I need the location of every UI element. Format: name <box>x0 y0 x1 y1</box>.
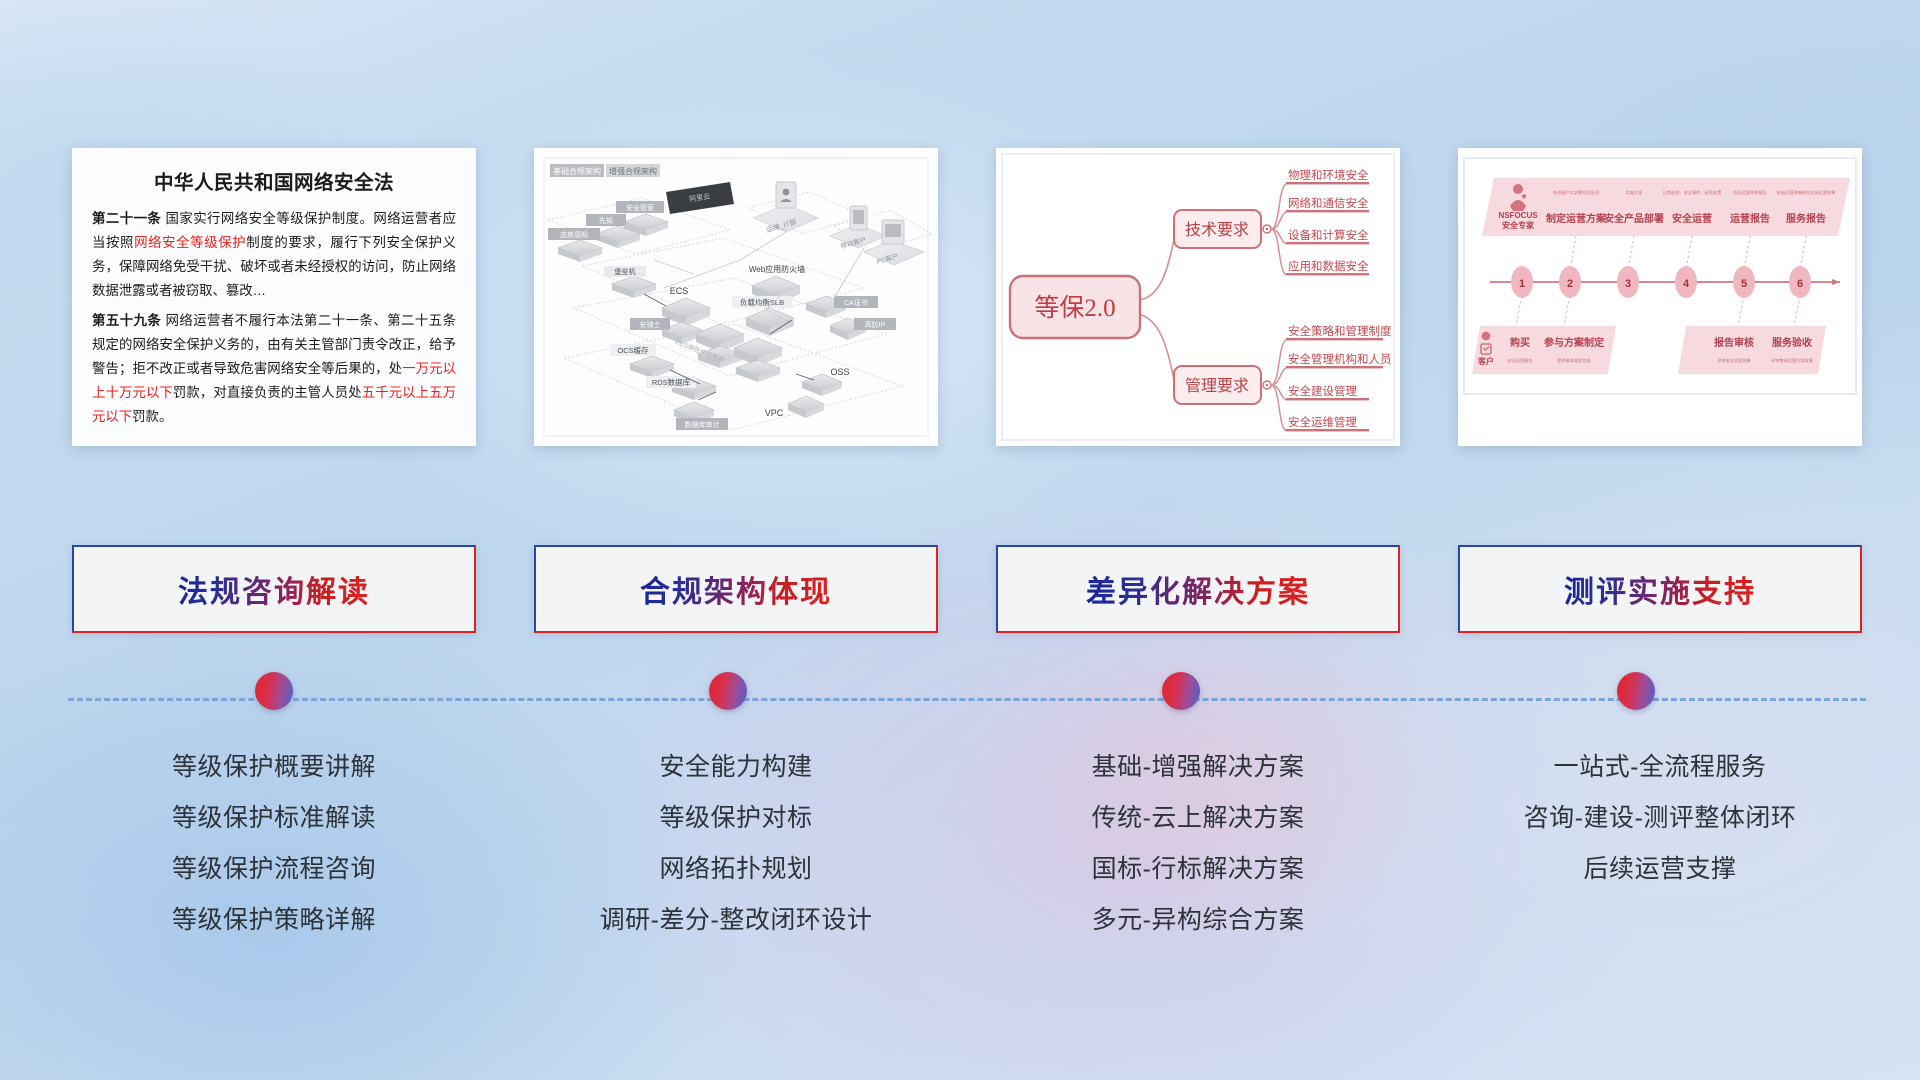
nsfocus-expert-line1: NSFOCUS <box>1498 211 1538 220</box>
mindmap-leaf-application: 应用和数据安全 <box>1288 259 1369 273</box>
list-item: 网络拓扑规划 <box>659 844 812 895</box>
svg-text:OSS: OSS <box>830 367 849 377</box>
nsfocus-bottom-caption-3: 评审安全运营效果 <box>1717 357 1751 364</box>
nsfocus-top-title-4: 运营报告 <box>1730 212 1770 225</box>
mindmap-leaf-network: 网络和通信安全 <box>1288 196 1369 210</box>
svg-text:VPC: VPC <box>765 408 784 418</box>
nsfocus-top-title-3: 安全运营 <box>1672 212 1712 225</box>
label-text-differentiated-solution: 差异化解决方案 <box>1086 567 1310 611</box>
nsfocus-bottom-title-2: 参与方案制定 <box>1544 336 1604 349</box>
timeline-dot-2 <box>709 672 747 710</box>
arch-tab-enhanced: 增强合规架构 <box>609 166 657 176</box>
mindmap-branch-management-label: 管理要求 <box>1185 377 1249 395</box>
nsfocus-bottom-right-banner <box>1678 326 1826 374</box>
nsfocus-step-num-4: 4 <box>1683 278 1690 290</box>
nsfocus-step-num-6: 6 <box>1797 278 1803 290</box>
mindmap-root: 等保2.0 <box>1010 276 1140 338</box>
list-item: 咨询-建设-测评整体闭环 <box>1524 793 1797 844</box>
detail-list-differentiated-solution: 基础-增强解决方案 传统-云上解决方案 国标-行标解决方案 多元-异构综合方案 <box>996 742 1400 972</box>
list-item: 等级保护流程咨询 <box>172 844 376 895</box>
svg-text:RDS数据库: RDS数据库 <box>652 377 691 387</box>
card-cloud-architecture: 基础合规架构 增强合规架构 阿里云 <box>534 148 938 446</box>
law-title: 中华人民共和国网络安全法 <box>92 166 456 195</box>
mindmap-root-label: 等保2.0 <box>1034 294 1115 322</box>
mindmap-diagram: 等保2.0 技术要求 物理和环境安全 <box>996 148 1400 446</box>
nsfocus-bottom-title-3: 报告审核 <box>1714 336 1754 349</box>
law-article-59-text-c: 罚款。 <box>132 409 172 424</box>
timeline-dots-row <box>72 672 1862 728</box>
card-nsfocus-process: NSFOCUS 安全专家 结合客户实求需明后台员 制定运营方案 实施方案 安全产… <box>1458 148 1862 446</box>
nsfocus-top-caption-5: 给出运营改善建议总体运营效果 <box>1777 189 1836 196</box>
nsfocus-top-title-1: 制定运营方案 <box>1546 212 1607 225</box>
nsfocus-bottom-caption-2: 提供基本现状信息 <box>1557 357 1591 364</box>
arch-tab-basic: 基础合规架构 <box>553 166 601 176</box>
svg-text:安全管家: 安全管家 <box>626 203 654 212</box>
list-item: 基础-增强解决方案 <box>1092 742 1305 793</box>
nsfocus-process-diagram: NSFOCUS 安全专家 结合客户实求需明后台员 制定运营方案 实施方案 安全产… <box>1458 148 1862 446</box>
list-item: 后续运营支撑 <box>1583 844 1736 895</box>
label-text-regulation-consulting: 法规咨询解读 <box>178 567 370 611</box>
label-box-compliance-architecture[interactable]: 合规架构体现 <box>534 545 938 633</box>
list-item: 传统-云上解决方案 <box>1092 793 1305 844</box>
card-dengbao-mindmap: 等保2.0 技术要求 物理和环境安全 <box>996 148 1400 446</box>
nsfocus-bottom-left-banner <box>1472 326 1616 374</box>
nsfocus-top-caption-2: 实施方案 <box>1626 189 1644 196</box>
media-cards-row: 中华人民共和国网络安全法 第二十一条 国家实行网络安全等级保护制度。网络运营者应… <box>72 148 1862 446</box>
mindmap-leaf-org: 安全管理机构和人员 <box>1288 352 1392 366</box>
nsfocus-top-caption-4: 阶段运营效果报告 <box>1733 189 1767 196</box>
list-item: 调研-差分-整改闭环设计 <box>600 895 873 946</box>
list-item: 一站式-全流程服务 <box>1554 742 1767 793</box>
mindmap-leaf-ops: 安全运维管理 <box>1288 415 1357 429</box>
mindmap-leaf-device: 设备和计算安全 <box>1288 228 1369 242</box>
list-item: 安全能力构建 <box>659 742 812 793</box>
label-text-assessment-support: 测评实施支持 <box>1564 567 1756 611</box>
svg-text:OCS缓存: OCS缓存 <box>617 345 649 355</box>
svg-text:Web应用防火墙: Web应用防火墙 <box>749 264 805 274</box>
timeline-dot-4 <box>1617 672 1655 710</box>
nsfocus-top-caption-3: 日常巡检、安全事件、高危处置 <box>1663 189 1722 196</box>
svg-text:堡垒机: 堡垒机 <box>615 267 636 276</box>
mindmap-branch-technical-label: 技术要求 <box>1185 221 1249 239</box>
law-article-21-label: 第二十一条 <box>92 211 161 226</box>
svg-text:ECS: ECS <box>670 286 689 296</box>
timeline-dot-3 <box>1162 672 1200 710</box>
list-item: 等级保护标准解读 <box>172 793 376 844</box>
nsfocus-step-num-1: 1 <box>1519 278 1525 290</box>
architecture-diagram: 基础合规架构 增强合规架构 阿里云 <box>534 148 938 446</box>
law-article-21-highlight: 网络安全等级保护 <box>134 235 246 250</box>
detail-lists-row: 等级保护概要讲解 等级保护标准解读 等级保护流程咨询 等级保护策略详解 安全能力… <box>72 742 1862 972</box>
nsfocus-step-num-5: 5 <box>1741 278 1747 290</box>
label-box-differentiated-solution[interactable]: 差异化解决方案 <box>996 545 1400 633</box>
nsfocus-customer-label: 客户 <box>1477 356 1494 366</box>
mindmap-leaf-policy: 安全策略和管理制度 <box>1288 324 1392 338</box>
svg-text:安骑士: 安骑士 <box>640 320 661 329</box>
card-cybersecurity-law: 中华人民共和国网络安全法 第二十一条 国家实行网络安全等级保护制度。网络运营者应… <box>72 148 476 446</box>
detail-list-assessment-support: 一站式-全流程服务 咨询-建设-测评整体闭环 后续运营支撑 <box>1458 742 1862 972</box>
label-box-regulation-consulting[interactable]: 法规咨询解读 <box>72 545 476 633</box>
list-item: 国标-行标解决方案 <box>1092 844 1305 895</box>
detail-list-regulation-consulting: 等级保护概要讲解 等级保护标准解读 等级保护流程咨询 等级保护策略详解 <box>72 742 476 972</box>
nsfocus-bottom-caption-1: 安全运营服务 <box>1507 357 1533 364</box>
nsfocus-expert-line2: 安全专家 <box>1502 220 1535 230</box>
nsfocus-bottom-title-4: 服务验收 <box>1772 336 1812 349</box>
nsfocus-top-title-5: 服务报告 <box>1786 212 1826 225</box>
svg-text:先知: 先知 <box>599 216 613 225</box>
nsfocus-bottom-caption-4: 评审整改运营方案效果 <box>1771 357 1814 364</box>
nsfocus-top-title-2: 安全产品部署 <box>1604 212 1664 225</box>
nsfocus-step-num-2: 2 <box>1567 278 1573 290</box>
svg-text:高防IP: 高防IP <box>865 320 886 329</box>
detail-list-compliance-architecture: 安全能力构建 等级保护对标 网络拓扑规划 调研-差分-整改闭环设计 <box>534 742 938 972</box>
list-item: 等级保护对标 <box>659 793 812 844</box>
label-box-assessment-support[interactable]: 测评实施支持 <box>1458 545 1862 633</box>
mindmap-leaf-physical: 物理和环境安全 <box>1288 168 1369 182</box>
law-article-59-text-b: 罚款，对直接负责的主管人员处 <box>173 385 362 400</box>
timeline-dot-1 <box>255 672 293 710</box>
law-article-59-label: 第五十九条 <box>92 313 161 328</box>
law-article-59: 第五十九条 网络运营者不履行本法第二十一条、第二十五条规定的网络安全保护义务的，… <box>92 309 456 429</box>
svg-text:数据库审计: 数据库审计 <box>685 420 720 429</box>
nsfocus-step-num-3: 3 <box>1625 278 1631 290</box>
svg-text:CA证书: CA证书 <box>844 298 868 307</box>
nsfocus-top-caption-1: 结合客户实求需明后台员 <box>1553 189 1599 196</box>
nsfocus-top-banner <box>1482 178 1850 236</box>
nsfocus-bottom-title-1: 购买 <box>1510 336 1530 349</box>
category-labels-row: 法规咨询解读 合规架构体现 差异化解决方案 测评实施支持 <box>72 545 1862 633</box>
label-text-compliance-architecture: 合规架构体现 <box>640 567 832 611</box>
mindmap-leaf-build: 安全建设管理 <box>1288 384 1357 398</box>
law-article-21: 第二十一条 国家实行网络安全等级保护制度。网络运营者应当按照网络安全等级保护制度… <box>92 207 456 303</box>
list-item: 等级保护概要讲解 <box>172 742 376 793</box>
svg-text:态势感知: 态势感知 <box>560 230 588 239</box>
list-item: 多元-异构综合方案 <box>1092 895 1305 946</box>
list-item: 等级保护策略详解 <box>172 895 376 946</box>
